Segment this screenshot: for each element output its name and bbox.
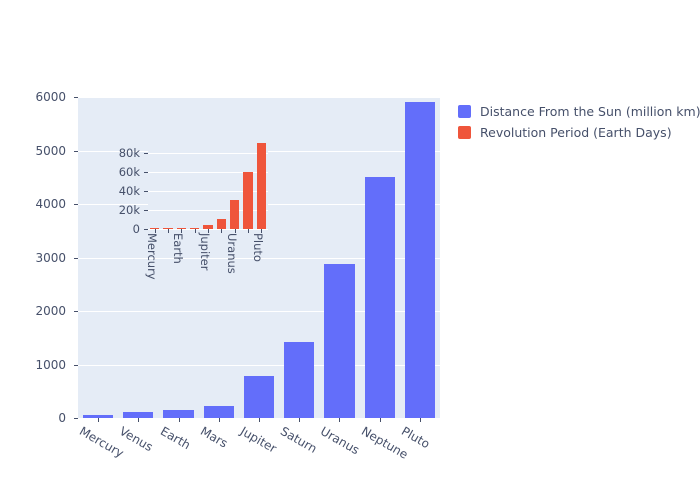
main-y-tick-label: 1000	[35, 358, 66, 372]
inset-x-tick-label: Pluto	[251, 233, 265, 262]
legend-swatch-distance	[458, 105, 471, 118]
main-x-tick-label: Uranus	[318, 424, 362, 457]
main-x-tick-label: Mercury	[77, 424, 126, 460]
inset-bar-series	[148, 139, 268, 229]
inset-bar-saturn[interactable]	[217, 219, 227, 229]
inset-y-tick-label: 60k	[119, 165, 140, 179]
inset-x-tickmark	[221, 229, 222, 233]
legend: Distance From the Sun (million km) Revol…	[458, 101, 700, 143]
main-y-tick-label: 6000	[35, 90, 66, 104]
main-x-tickmark	[380, 418, 381, 422]
main-x-tick-label: Jupiter	[238, 424, 279, 456]
main-x-tick-label: Earth	[158, 424, 193, 452]
main-x-tickmark	[420, 418, 421, 422]
main-x-tickmark	[98, 418, 99, 422]
legend-item-revolution[interactable]: Revolution Period (Earth Days)	[458, 122, 700, 143]
inset-y-tick-label: 80k	[119, 146, 140, 160]
inset-x-tickmark	[168, 229, 169, 233]
inset-x-tickmark	[195, 229, 196, 233]
main-x-tickmark	[138, 418, 139, 422]
main-bar-saturn[interactable]	[284, 342, 314, 419]
main-x-tick-label: Saturn	[278, 424, 319, 456]
legend-swatch-revolution	[458, 126, 471, 139]
main-x-tickmark	[339, 418, 340, 422]
inset-x-tick-label: Mercury	[145, 233, 159, 280]
legend-label-distance: Distance From the Sun (million km)	[480, 104, 700, 119]
main-bar-neptune[interactable]	[365, 177, 395, 418]
inset-bar-uranus[interactable]	[230, 200, 240, 229]
inset-y-tick-label: 20k	[119, 203, 140, 217]
main-bar-earth[interactable]	[163, 410, 193, 418]
main-bar-jupiter[interactable]	[244, 376, 274, 418]
main-y-tick-label: 5000	[35, 144, 66, 158]
inset-x-tick-label: Uranus	[225, 233, 239, 274]
main-x-tickmark	[179, 418, 180, 422]
main-y-tick-label: 3000	[35, 251, 66, 265]
chart-root: 0100020003000400050006000 MercuryVenusEa…	[0, 0, 700, 500]
inset-y-tick-label: 40k	[119, 184, 140, 198]
main-bar-uranus[interactable]	[324, 264, 354, 418]
main-x-axis: MercuryVenusEarthMarsJupiterSaturnUranus…	[78, 418, 440, 498]
main-bar-mars[interactable]	[204, 406, 234, 418]
inset-x-tickmark	[248, 229, 249, 233]
main-x-tickmark	[299, 418, 300, 422]
inset-x-tick-label: Earth	[171, 233, 185, 264]
inset-bar-neptune[interactable]	[243, 172, 253, 229]
inset-y-axis: 020k40k60k80k	[80, 120, 144, 250]
inset-x-axis: MercuryEarthJupiterUranusPluto	[148, 229, 278, 299]
main-y-axis: 0100020003000400050006000	[0, 0, 72, 500]
main-y-tick-label: 2000	[35, 304, 66, 318]
inset-y-tick-label: 0	[133, 222, 140, 236]
inset-bar-pluto[interactable]	[257, 143, 267, 229]
legend-item-distance[interactable]: Distance From the Sun (million km)	[458, 101, 700, 122]
main-y-tick-label: 4000	[35, 197, 66, 211]
main-y-tick-label: 0	[58, 411, 66, 425]
main-x-tick-label: Mars	[198, 424, 230, 451]
main-x-tickmark	[259, 418, 260, 422]
main-x-tickmark	[219, 418, 220, 422]
legend-label-revolution: Revolution Period (Earth Days)	[480, 125, 672, 140]
inset-x-tick-label: Jupiter	[198, 233, 212, 271]
main-bar-pluto[interactable]	[405, 102, 435, 418]
